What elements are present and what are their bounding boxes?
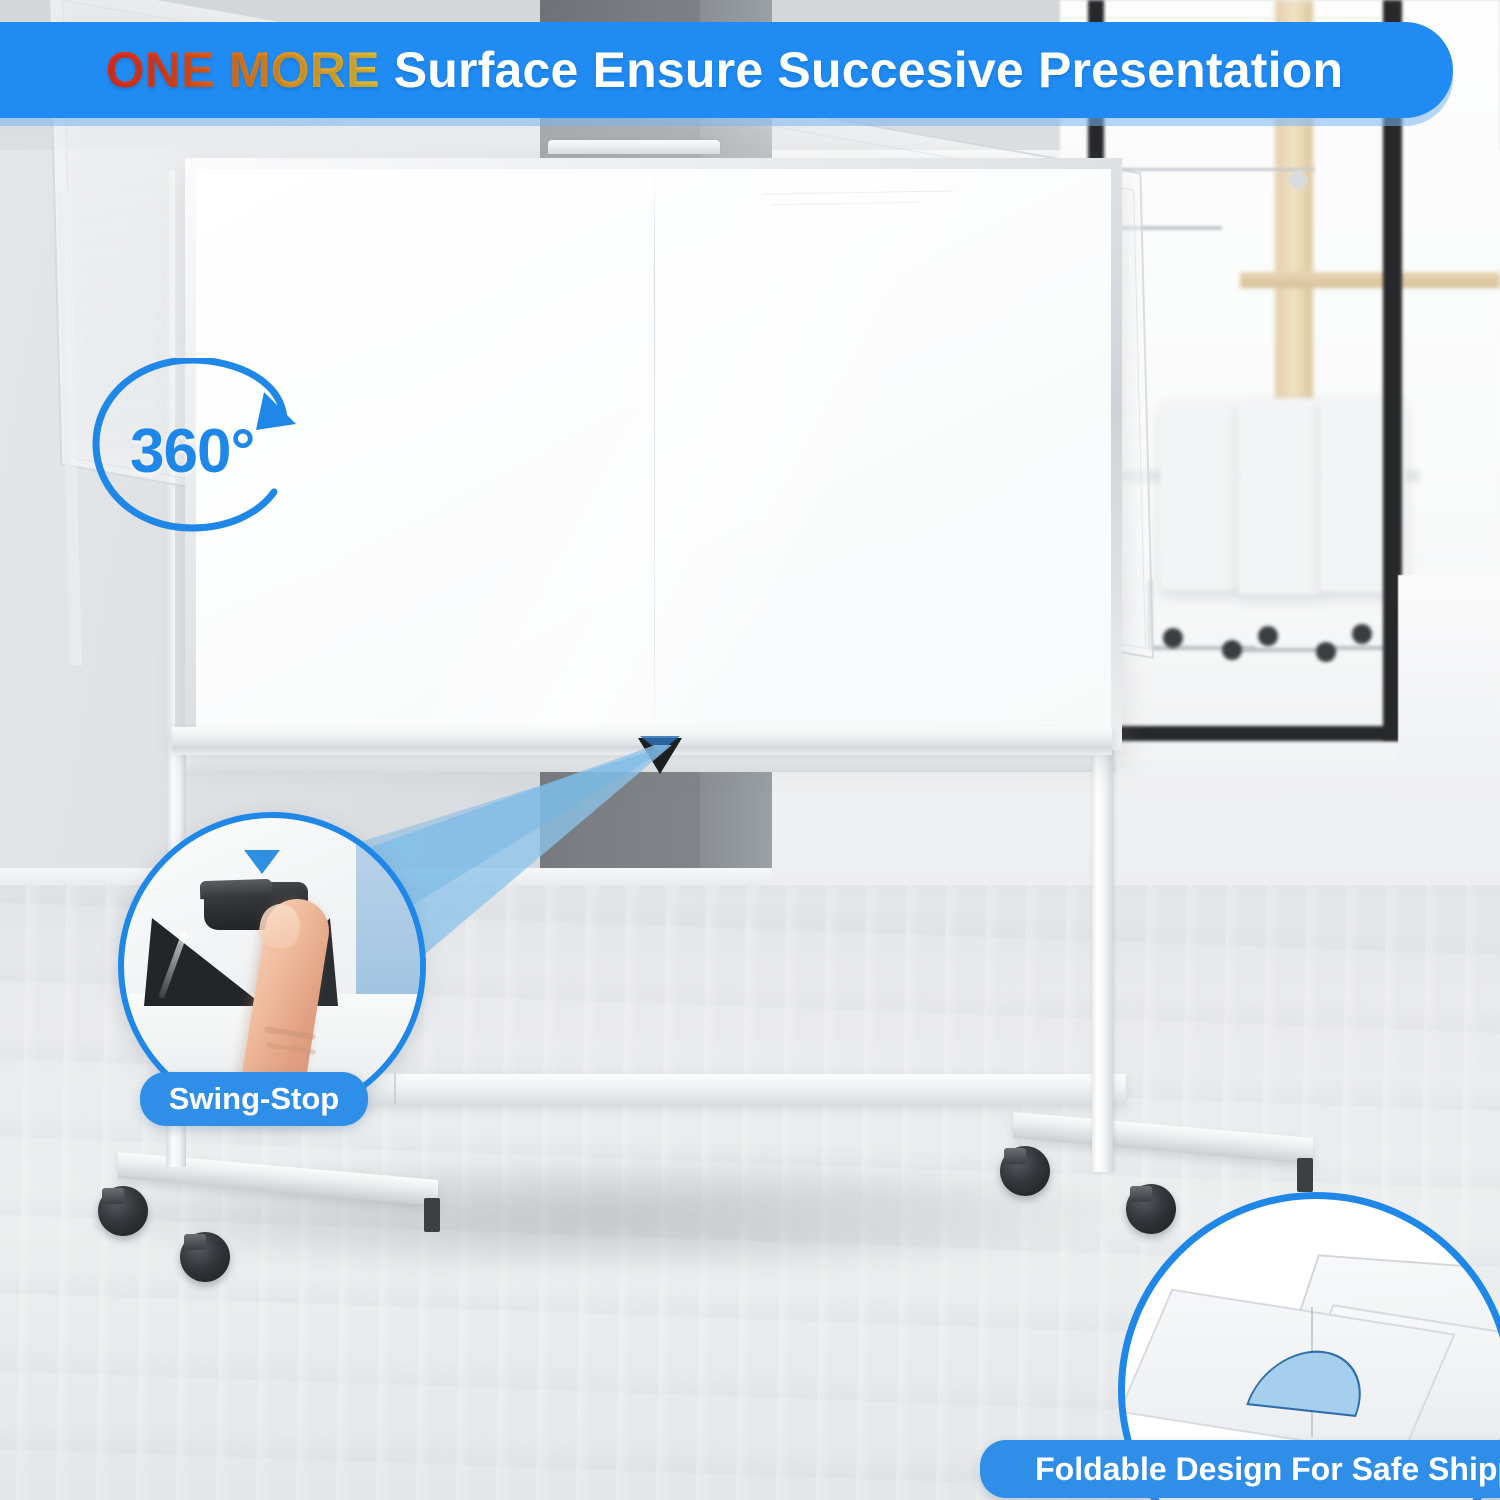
product-marketing-image: 360° ONE MORE Surface Ensure Succesive P… [0, 0, 1500, 1500]
callout-swing-stop: Swing-Stop [118, 812, 414, 1108]
callout-background-wall [356, 818, 426, 1018]
rotation-360-label: 360° [130, 416, 254, 487]
rotation-360-badge: 360° [88, 358, 358, 538]
callout-swing-stop-label: Swing-Stop [169, 1081, 339, 1117]
swing-stop-highlight [640, 736, 680, 752]
stand-foot-endcap [1297, 1158, 1313, 1192]
board-pivot-hinge [548, 140, 720, 154]
caster-hub [102, 1188, 124, 1204]
callout-foldable-label-pill: Foldable Design For Safe Shipping [980, 1440, 1500, 1498]
headline-highlight: ONE MORE [106, 42, 380, 98]
stand-foot-endcap [424, 1198, 440, 1232]
stand-foot-right [1013, 1112, 1313, 1164]
caster-hub [184, 1234, 206, 1250]
headline-rest: Surface Ensure Succesive Presentation [380, 42, 1344, 98]
down-triangle-icon [244, 850, 280, 874]
callout-swing-stop-label-pill: Swing-Stop [140, 1072, 368, 1126]
swing-stop-lever-cap [200, 879, 273, 900]
headline-text: ONE MORE Surface Ensure Succesive Presen… [80, 41, 1343, 99]
caster-hub [1004, 1148, 1026, 1164]
headline-banner: ONE MORE Surface Ensure Succesive Presen… [0, 22, 1453, 118]
callout-foldable-design: Foldable Design For Safe Shipping [1118, 1192, 1500, 1500]
callout-foldable-label: Foldable Design For Safe Shipping [1035, 1451, 1500, 1488]
